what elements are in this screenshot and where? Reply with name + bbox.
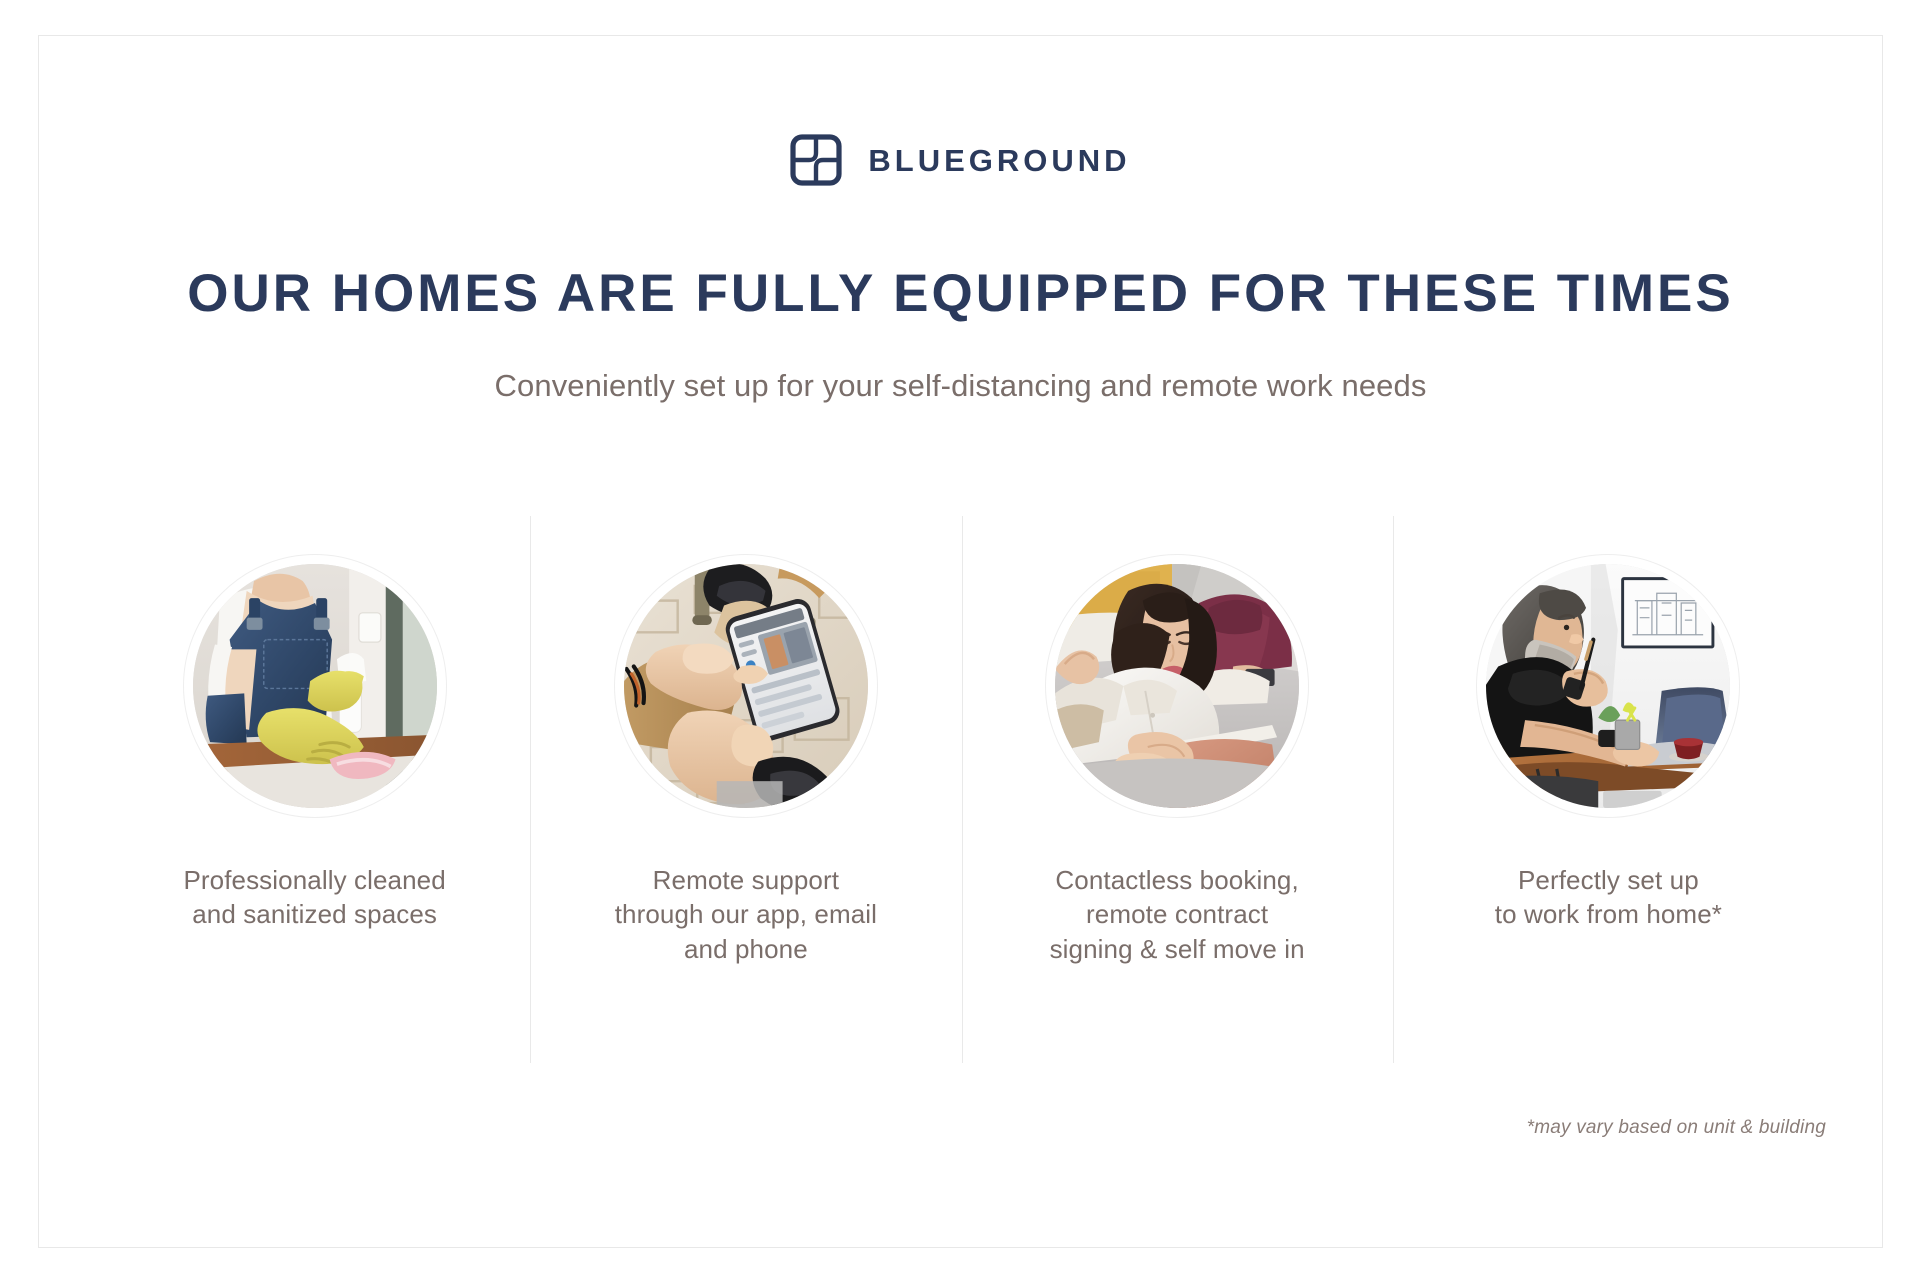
feature-caption: Contactless booking, remote contract sig…: [1050, 863, 1305, 966]
man-working-at-desk-photo: [1486, 564, 1730, 808]
feature-caption: Remote support through our app, email an…: [615, 863, 877, 966]
page-title: OUR HOMES ARE FULLY EQUIPPED FOR THESE T…: [39, 266, 1882, 322]
brand-logo: BLUEGROUND: [39, 134, 1882, 186]
cleaner-wiping-counter-photo: [193, 564, 437, 808]
brand-wordmark: BLUEGROUND: [868, 145, 1130, 176]
blueground-square-mark-icon: [790, 134, 842, 186]
hands-using-smartphone-photo: [624, 564, 868, 808]
feature-caption: Perfectly set up to work from home*: [1495, 863, 1722, 932]
feature-caption: Professionally cleaned and sanitized spa…: [183, 863, 445, 932]
feature-card-remote-support: Remote support through our app, email an…: [530, 516, 961, 1096]
photo-ring: [614, 554, 878, 818]
photo-ring: [1045, 554, 1309, 818]
infographic-poster: BLUEGROUND OUR HOMES ARE FULLY EQUIPPED …: [38, 35, 1883, 1248]
page-subtitle: Conveniently set up for your self-distan…: [39, 366, 1882, 406]
feature-card-work-from-home: Perfectly set up to work from home*: [1393, 516, 1824, 1096]
photo-ring: [1476, 554, 1740, 818]
feature-card-contactless-booking: Contactless booking, remote contract sig…: [962, 516, 1393, 1096]
photo-ring: [183, 554, 447, 818]
footnote-disclaimer: *may vary based on unit & building: [1527, 1117, 1826, 1139]
feature-card-list: Professionally cleaned and sanitized spa…: [99, 516, 1824, 1096]
feature-card-cleaning: Professionally cleaned and sanitized spa…: [99, 516, 530, 1096]
woman-on-bed-with-tablet-photo: [1055, 564, 1299, 808]
